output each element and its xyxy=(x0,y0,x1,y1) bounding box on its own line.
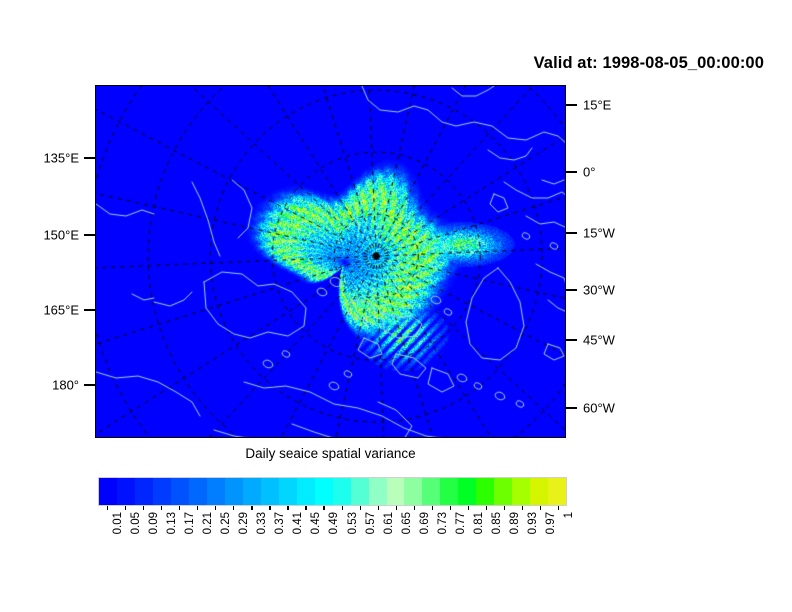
colorbar-tick-11 xyxy=(305,506,306,510)
colorbar-swatch-0 xyxy=(99,478,117,505)
colorbar-tick-19 xyxy=(450,506,451,510)
seaice-variance-heatmap xyxy=(96,86,566,438)
colorbar-tick-label-5: 0.21 xyxy=(202,512,214,534)
colorbar-tick-label-3: 0.13 xyxy=(166,512,178,534)
colorbar-swatch-5 xyxy=(189,478,207,505)
colorbar-swatch-8 xyxy=(243,478,261,505)
tick-left-0 xyxy=(84,157,95,159)
colorbar-swatch-1 xyxy=(117,478,135,505)
colorbar-swatch-16 xyxy=(387,478,405,505)
colorbar-tick-7 xyxy=(233,506,234,510)
colorbar-caption: Daily seaice spatial variance xyxy=(95,446,566,461)
colorbar-swatch-12 xyxy=(315,478,333,505)
axis-label-right-4: 45°W xyxy=(583,333,615,346)
colorbar-tick-21 xyxy=(486,506,487,510)
colorbar-tick-3 xyxy=(161,506,162,510)
colorbar-swatch-15 xyxy=(369,478,387,505)
colorbar-tick-label-2: 0.09 xyxy=(148,512,160,534)
colorbar-tick-23 xyxy=(522,506,523,510)
colorbar-swatch-17 xyxy=(404,478,422,505)
colorbar-swatch-25 xyxy=(548,478,566,505)
colorbar-swatch-3 xyxy=(153,478,171,505)
axis-label-left-2: 165°E xyxy=(43,303,79,316)
colorbar-tick-label-16: 0.65 xyxy=(401,512,413,534)
colorbar-tick-13 xyxy=(342,506,343,510)
colorbar-tick-18 xyxy=(432,506,433,510)
colorbar-swatch-13 xyxy=(333,478,351,505)
colorbar-swatch-19 xyxy=(440,478,458,505)
colorbar-tick-2 xyxy=(143,506,144,510)
colorbar-swatch-24 xyxy=(530,478,548,505)
colorbar-swatch-14 xyxy=(351,478,369,505)
axis-label-left-0: 135°E xyxy=(43,152,79,165)
colorbar-tick-14 xyxy=(360,506,361,510)
colorbar-tick-label-17: 0.69 xyxy=(419,512,431,534)
colorbar-tick-20 xyxy=(468,506,469,510)
tick-right-0 xyxy=(566,104,577,106)
colorbar-tick-10 xyxy=(287,506,288,510)
colorbar-tick-15 xyxy=(378,506,379,510)
colorbar-tick-label-14: 0.57 xyxy=(365,512,377,534)
colorbar-tick-6 xyxy=(215,506,216,510)
axis-label-right-0: 15°E xyxy=(583,99,611,112)
colorbar-tick-label-10: 0.41 xyxy=(292,512,304,534)
axis-label-left-1: 150°E xyxy=(43,229,79,242)
axis-label-right-1: 0° xyxy=(583,165,595,178)
colorbar-tick-16 xyxy=(396,506,397,510)
axis-label-right-3: 30°W xyxy=(583,283,615,296)
colorbar-swatch-20 xyxy=(458,478,476,505)
colorbar-swatch-2 xyxy=(135,478,153,505)
colorbar-tick-label-23: 0.93 xyxy=(527,512,539,534)
colorbar-swatch-11 xyxy=(297,478,315,505)
colorbar-tick-5 xyxy=(197,506,198,510)
colorbar-tick-8 xyxy=(251,506,252,510)
colorbar-swatch-9 xyxy=(261,478,279,505)
colorbar-tick-label-13: 0.53 xyxy=(347,512,359,534)
tick-right-5 xyxy=(566,407,577,409)
colorbar-tick-label-22: 0.89 xyxy=(509,512,521,534)
tick-right-3 xyxy=(566,289,577,291)
colorbar-tick-25 xyxy=(558,506,559,510)
colorbar-tick-label-21: 0.85 xyxy=(491,512,503,534)
tick-left-2 xyxy=(84,309,95,311)
colorbar-swatch-21 xyxy=(476,478,494,505)
colorbar[interactable] xyxy=(98,477,567,506)
colorbar-tick-label-7: 0.29 xyxy=(238,512,250,534)
colorbar-ticks xyxy=(98,506,567,511)
colorbar-tick-label-8: 0.33 xyxy=(256,512,268,534)
colorbar-swatch-22 xyxy=(494,478,512,505)
axis-label-left-3: 180° xyxy=(52,379,79,392)
colorbar-tick-label-9: 0.37 xyxy=(274,512,286,534)
tick-right-1 xyxy=(566,171,577,173)
colorbar-tick-label-4: 0.17 xyxy=(184,512,196,534)
colorbar-tick-labels: 0.010.050.090.130.170.210.250.290.330.37… xyxy=(98,512,567,582)
colorbar-tick-label-11: 0.45 xyxy=(310,512,322,534)
colorbar-tick-24 xyxy=(540,506,541,510)
tick-right-2 xyxy=(566,232,577,234)
tick-right-4 xyxy=(566,339,577,341)
colorbar-swatch-4 xyxy=(171,478,189,505)
axis-label-right-5: 60°W xyxy=(583,401,615,414)
colorbar-tick-4 xyxy=(179,506,180,510)
colorbar-tick-label-24: 0.97 xyxy=(545,512,557,534)
colorbar-tick-22 xyxy=(504,506,505,510)
colorbar-tick-label-25: 1 xyxy=(563,512,575,518)
colorbar-tick-17 xyxy=(414,506,415,510)
colorbar-tick-label-15: 0.61 xyxy=(383,512,395,534)
colorbar-tick-label-19: 0.77 xyxy=(455,512,467,534)
colorbar-tick-label-20: 0.81 xyxy=(473,512,485,534)
colorbar-tick-label-1: 0.05 xyxy=(130,512,142,534)
tick-left-3 xyxy=(84,384,95,386)
colorbar-gradient xyxy=(98,477,567,506)
page-title: Valid at: 1998-08-05_00:00:00 xyxy=(534,54,764,73)
axis-label-right-2: 15°W xyxy=(583,226,615,239)
colorbar-swatch-23 xyxy=(512,478,530,505)
map-plot-area[interactable] xyxy=(95,85,566,438)
colorbar-swatch-10 xyxy=(279,478,297,505)
colorbar-tick-label-12: 0.49 xyxy=(328,512,340,534)
colorbar-swatch-18 xyxy=(422,478,440,505)
colorbar-tick-1 xyxy=(125,506,126,510)
colorbar-tick-9 xyxy=(269,506,270,510)
colorbar-tick-0 xyxy=(107,506,108,510)
colorbar-tick-label-0: 0.01 xyxy=(112,512,124,534)
colorbar-tick-12 xyxy=(323,506,324,510)
figure-root: Valid at: 1998-08-05_00:00:00 135°E150°E… xyxy=(0,0,792,612)
colorbar-swatch-6 xyxy=(207,478,225,505)
tick-left-1 xyxy=(84,234,95,236)
colorbar-swatch-7 xyxy=(225,478,243,505)
colorbar-tick-label-6: 0.25 xyxy=(220,512,232,534)
colorbar-tick-label-18: 0.73 xyxy=(437,512,449,534)
